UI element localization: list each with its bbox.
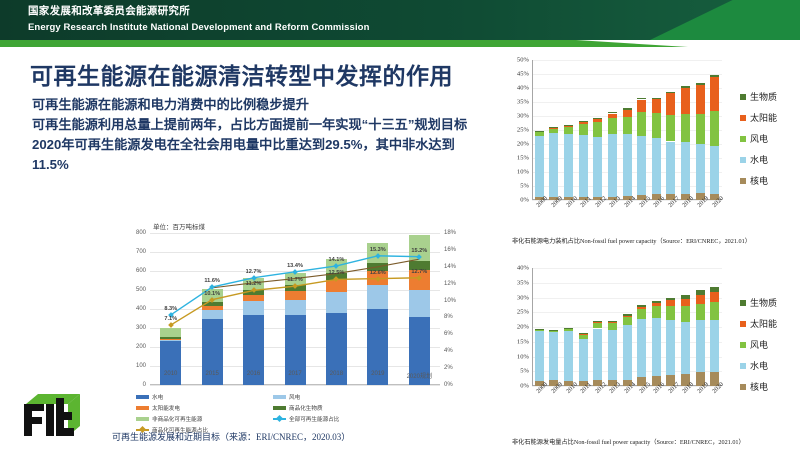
data-label: 15.2% [411, 248, 427, 254]
bar-segment [535, 131, 544, 132]
header-text-block: 国家发展和改革委员会能源研究所 Energy Research Institut… [28, 4, 369, 35]
y-axis-tick: 20% [517, 141, 529, 148]
bar-segment [710, 77, 719, 111]
bar-segment [637, 319, 646, 377]
bar-stack [608, 268, 617, 386]
y2-axis-tick: 16% [444, 247, 456, 253]
y-axis-tick: 10% [517, 353, 529, 360]
bar-segment [681, 295, 690, 299]
bar-segment [593, 137, 602, 197]
eri-logo [18, 390, 90, 442]
bar-segment [696, 144, 705, 193]
y-axis-tick: 500 [136, 287, 146, 293]
legend-swatch [740, 115, 746, 121]
legend-item[interactable]: 水电 [136, 393, 273, 401]
bar-stack [593, 60, 602, 200]
legend-label: 太阳能 [750, 317, 777, 330]
generation-chart-caption: 非化石能源发电量占比Non-fossil fuel power capacity… [512, 437, 745, 446]
y-axis-tick: 25% [517, 127, 529, 134]
bar-stack [535, 268, 544, 386]
bar-segment [564, 331, 573, 380]
bar-segment [710, 302, 719, 320]
bar-segment [549, 128, 558, 132]
bar-stack [637, 60, 646, 200]
y-axis-tick: 15% [517, 338, 529, 345]
legend-item[interactable]: 水电 [740, 153, 777, 166]
y-axis-tick: 800 [136, 230, 146, 236]
bar-segment [593, 321, 602, 322]
legend-label: 生物质 [750, 296, 777, 309]
organization-name-en: Energy Research Institute National Devel… [28, 21, 369, 35]
bar-segment [681, 88, 690, 115]
y2-axis-tick: 12% [444, 281, 456, 287]
legend-item[interactable]: 风电 [740, 132, 777, 145]
legend-item[interactable]: 风电 [273, 393, 410, 401]
bar-stack [710, 268, 719, 386]
legend-label: 水电 [750, 359, 768, 372]
bar-segment [710, 146, 719, 194]
y-axis-tick: 30% [517, 113, 529, 120]
bar-segment [608, 112, 617, 113]
bar-segment [549, 133, 558, 197]
bar-segment [710, 320, 719, 372]
data-label: 11.6% [204, 278, 220, 284]
bar-segment [637, 136, 646, 195]
bar-stack [549, 60, 558, 200]
bar-segment [593, 119, 602, 122]
bar-segment [564, 126, 573, 127]
bar-segment [696, 85, 705, 115]
legend-label: 核电 [750, 174, 768, 187]
bar-segment [579, 333, 588, 334]
bar-stack [593, 268, 602, 386]
bar-segment [549, 127, 558, 128]
bar-segment [710, 287, 719, 292]
data-label: 7.1% [164, 316, 177, 322]
legend-label: 核电 [750, 380, 768, 393]
bar-segment [681, 299, 690, 306]
bar-segment [593, 329, 602, 381]
data-label: 12.7% [246, 269, 262, 275]
bar-segment [564, 329, 573, 332]
bar-segment [666, 115, 675, 141]
legend-item[interactable]: 水电 [740, 359, 777, 372]
legend-swatch [740, 136, 746, 142]
legend-label: 商品化生物质 [289, 404, 323, 412]
generation-chart-legend: 生物质太阳能风电水电核电 [740, 296, 777, 401]
legend-item[interactable]: 全部可再生能源占比 [273, 415, 410, 423]
y2-axis-tick: 0% [444, 382, 453, 388]
y-axis-tick: 700 [136, 249, 146, 255]
bar-segment [637, 307, 646, 309]
y-axis-tick: 5% [520, 183, 529, 190]
data-label: 14.1% [328, 257, 344, 263]
bar-segment [579, 135, 588, 196]
bar-segment [608, 118, 617, 134]
legend-swatch [273, 395, 286, 399]
legend-item[interactable]: 太阳能 [740, 317, 777, 330]
bar-segment [637, 112, 646, 136]
legend-label: 风电 [289, 393, 300, 401]
y-axis-tick: 35% [517, 279, 529, 286]
bar-segment [637, 305, 646, 307]
bar-stack [696, 268, 705, 386]
legend-swatch [740, 300, 746, 306]
y2-axis-tick: 14% [444, 264, 456, 270]
bar-segment [593, 122, 602, 137]
y2-axis-tick: 2% [444, 365, 453, 371]
bar-segment [696, 320, 705, 373]
bullet-item: 可再生能源在能源和电力消费中的比例稳步提升 [32, 95, 487, 115]
legend-label: 水电 [750, 153, 768, 166]
y-axis-tick: 200 [136, 344, 146, 350]
bar-segment [696, 83, 705, 85]
bar-stack [666, 60, 675, 200]
bar-segment [623, 108, 632, 109]
legend-label: 风电 [750, 132, 768, 145]
y-axis-tick: 5% [520, 368, 529, 375]
y-axis-tick: 30% [517, 294, 529, 301]
legend-item[interactable]: 非商品化可再生能源 [136, 415, 273, 423]
bar-segment [579, 124, 588, 136]
bar-segment [579, 339, 588, 381]
bar-segment [549, 331, 558, 332]
bar-segment [652, 303, 661, 306]
y-axis-tick: 400 [136, 306, 146, 312]
bar-stack [623, 60, 632, 200]
main-chart-caption: 可再生能源发展和近期目标（来源：ERI/CNREC，2020.03） [112, 430, 350, 443]
bar-stack [637, 268, 646, 386]
data-label: 12.5% [328, 270, 344, 276]
legend-swatch [273, 406, 286, 410]
legend-swatch [740, 342, 746, 348]
capacity-chart-plot: 0%5%10%15%20%25%30%35%40%45%50%200820092… [532, 60, 722, 200]
bar-stack [666, 268, 675, 386]
bar-segment [652, 301, 661, 304]
bar-segment [666, 92, 675, 94]
legend-label: 太阳能发电 [152, 404, 180, 412]
y-axis-tick: 0% [520, 197, 529, 204]
bar-segment [666, 306, 675, 320]
legend-item[interactable]: 核电 [740, 174, 777, 187]
bar-stack [579, 60, 588, 200]
bar-segment [666, 93, 675, 115]
legend-label: 太阳能 [750, 111, 777, 124]
bar-stack [579, 268, 588, 386]
bar-stack [652, 60, 661, 200]
main-chart-plot: 01002003004005006007008000%2%4%6%8%10%12… [150, 233, 440, 385]
legend-swatch [136, 406, 149, 410]
y2-axis-tick: 18% [444, 230, 456, 236]
bullet-list: 可再生能源在能源和电力消费中的比例稳步提升 可再生能源利用总量上提前两年，占比方… [32, 95, 487, 175]
generation-chart: 0%5%10%15%20%25%30%35%40%200820092010201… [497, 262, 797, 430]
bar-segment [696, 304, 705, 320]
bar-segment [637, 309, 646, 318]
bar-segment [535, 132, 544, 136]
bullet-item: 2020年可再生能源发电在全社会用电量中比重达到29.5%，其中非水达到11.5… [32, 135, 487, 175]
bar-segment [696, 295, 705, 304]
bar-segment [637, 98, 646, 99]
bar-segment [681, 142, 690, 194]
bar-stack [710, 60, 719, 200]
bar-segment [637, 100, 646, 113]
capacity-chart-legend: 生物质太阳能风电水电核电 [740, 90, 777, 195]
y-axis-line [532, 60, 533, 200]
data-label: 10.1% [204, 291, 220, 297]
line-overlay [150, 233, 440, 385]
y2-axis-tick: 8% [444, 314, 453, 320]
legend-item[interactable]: 太阳能发电 [136, 404, 273, 412]
y2-axis-tick: 10% [444, 298, 456, 304]
bar-stack [535, 60, 544, 200]
bar-segment [564, 125, 573, 126]
legend-item[interactable]: 风电 [740, 338, 777, 351]
bar-stack [681, 60, 690, 200]
legend-swatch [740, 94, 746, 100]
bar-segment [535, 331, 544, 380]
legend-label: 风电 [750, 338, 768, 351]
gridline [150, 385, 440, 386]
bar-segment [623, 325, 632, 380]
bar-stack [623, 268, 632, 386]
bar-segment [623, 316, 632, 317]
legend-label: 生物质 [750, 90, 777, 103]
bar-segment [564, 328, 573, 329]
bar-segment [549, 330, 558, 331]
bar-segment [564, 126, 573, 134]
bar-segment [623, 317, 632, 325]
slide: 国家发展和改革委员会能源研究所 Energy Research Institut… [0, 0, 800, 450]
bar-segment [666, 320, 675, 375]
legend-swatch [740, 321, 746, 327]
bar-segment [564, 134, 573, 196]
legend-swatch [740, 157, 746, 163]
y-axis-tick: 50% [517, 57, 529, 64]
bar-segment [608, 330, 617, 380]
data-label: 11.2% [246, 281, 262, 287]
bar-segment [623, 117, 632, 134]
bar-segment [608, 114, 617, 118]
bar-segment [652, 318, 661, 376]
capacity-chart-caption: 非化石能源电力装机占比Non-fossil fuel power capacit… [512, 236, 751, 245]
bar-segment [593, 118, 602, 119]
data-label: 12.6% [370, 270, 386, 276]
bar-segment [579, 121, 588, 122]
bar-segment [549, 332, 558, 380]
data-label: 11.7% [287, 277, 303, 283]
header-green-wedge [650, 0, 800, 40]
y-axis-tick: 40% [517, 85, 529, 92]
data-label: 8.3% [164, 306, 177, 312]
bar-stack [549, 268, 558, 386]
legend-swatch [136, 417, 149, 421]
bar-segment [652, 98, 661, 100]
bar-segment [608, 321, 617, 322]
y-axis-tick: 100 [136, 363, 146, 369]
bar-segment [608, 134, 617, 197]
bar-segment [666, 142, 675, 195]
generation-chart-plot: 0%5%10%15%20%25%30%35%40%200820092010201… [532, 268, 722, 386]
bar-stack [681, 268, 690, 386]
bar-stack [696, 60, 705, 200]
bar-segment [593, 323, 602, 329]
bar-segment [652, 113, 661, 138]
bar-segment [681, 86, 690, 88]
bar-segment [535, 136, 544, 197]
bar-segment [681, 306, 690, 321]
y-axis-tick: 35% [517, 99, 529, 106]
slide-header: 国家发展和改革委员会能源研究所 Energy Research Institut… [0, 0, 800, 40]
y-axis-tick: 0% [520, 383, 529, 390]
data-label: 15.3% [370, 247, 386, 253]
x-axis-tick: 2020规划 [395, 371, 443, 380]
bar-stack [564, 60, 573, 200]
legend-swatch [273, 418, 286, 420]
bar-segment [623, 314, 632, 315]
bar-segment [681, 322, 690, 374]
bar-segment [710, 292, 719, 302]
legend-swatch [740, 384, 746, 390]
y-axis-tick: 0 [143, 382, 146, 388]
bar-segment [681, 114, 690, 141]
legend-item[interactable]: 太阳能 [740, 111, 777, 124]
bar-segment [710, 75, 719, 77]
bar-segment [652, 306, 661, 318]
bar-segment [608, 322, 617, 323]
y-axis-line [532, 268, 533, 386]
legend-swatch [136, 395, 149, 399]
y2-axis-tick: 4% [444, 348, 453, 354]
bar-segment [579, 122, 588, 123]
legend-item[interactable]: 核电 [740, 380, 777, 393]
bar-segment [696, 290, 705, 294]
legend-item[interactable]: 生物质 [740, 296, 777, 309]
y-axis-tick: 10% [517, 169, 529, 176]
y-axis-tick: 40% [517, 265, 529, 272]
capacity-chart: 0%5%10%15%20%25%30%35%40%45%50%200820092… [497, 52, 797, 248]
bar-segment [666, 298, 675, 301]
legend-swatch [740, 178, 746, 184]
legend-label: 非商品化可再生能源 [152, 415, 202, 423]
y-axis-tick: 45% [517, 71, 529, 78]
bar-segment [652, 138, 661, 195]
bar-segment [535, 330, 544, 331]
legend-item[interactable]: 商品化生物质 [273, 404, 410, 412]
y2-axis-tick: 6% [444, 331, 453, 337]
main-renewable-chart: 单位：百万吨标煤 01002003004005006007008000%2%4%… [108, 215, 493, 427]
bar-segment [696, 114, 705, 143]
y-axis-tick: 15% [517, 155, 529, 162]
bar-segment [710, 111, 719, 146]
bar-stack [652, 268, 661, 386]
bar-segment [579, 334, 588, 339]
legend-item[interactable]: 生物质 [740, 90, 777, 103]
legend-label: 水电 [152, 393, 163, 401]
bar-segment [535, 329, 544, 330]
bar-segment [549, 128, 558, 129]
y-axis-tick: 20% [517, 324, 529, 331]
organization-name-cn: 国家发展和改革委员会能源研究所 [28, 4, 369, 19]
y-axis-tick: 25% [517, 309, 529, 316]
y-axis-tick: 300 [136, 325, 146, 331]
data-label: 12.7% [411, 269, 427, 275]
page-title: 可再生能源在能源清洁转型中发挥的作用 [30, 57, 490, 91]
legend-swatch [740, 363, 746, 369]
bar-segment [666, 300, 675, 305]
bar-segment [652, 99, 661, 112]
bar-segment [623, 110, 632, 118]
legend-label: 全部可再生能源占比 [289, 415, 339, 423]
data-label: 13.4% [287, 263, 303, 269]
bullet-item: 可再生能源利用总量上提前两年，占比方面提前一年实现“十三五”规划目标 [32, 115, 487, 135]
bar-stack [608, 60, 617, 200]
chart-unit-note: 单位：百万吨标煤 [153, 221, 205, 231]
y-axis-tick: 600 [136, 268, 146, 274]
bar-segment [623, 134, 632, 196]
bar-stack [564, 268, 573, 386]
bar-segment [608, 323, 617, 331]
